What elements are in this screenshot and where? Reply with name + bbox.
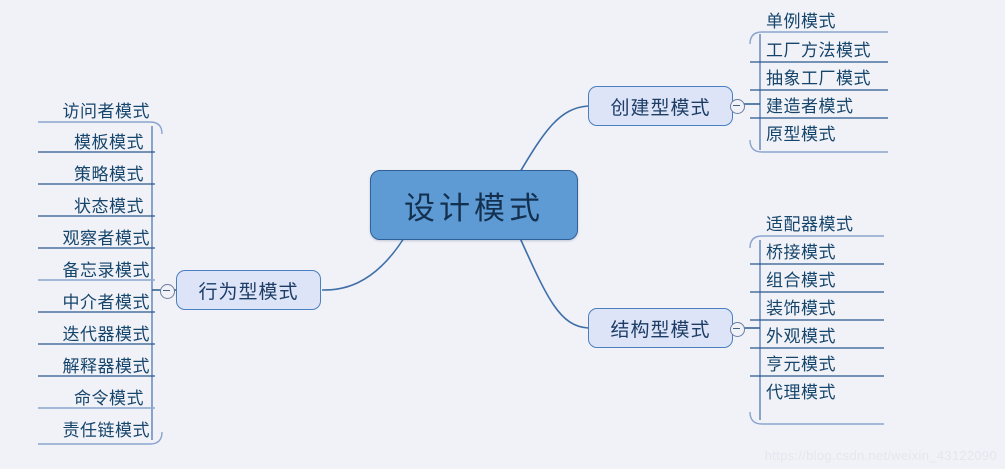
leaf-label: 访问者模式 [63, 102, 151, 121]
leaf-label: 中介者模式 [63, 293, 151, 312]
leaf-label: 建造者模式 [766, 97, 854, 116]
leaf-label: 观察者模式 [63, 229, 151, 248]
leaf-structural-5[interactable]: 亨元模式 [766, 355, 836, 375]
leaf-label: 适配器模式 [766, 215, 854, 234]
leaf-creational-0[interactable]: 单例模式 [766, 12, 836, 32]
leaf-behavioral-4[interactable]: 观察者模式 [10, 229, 150, 249]
leaf-rail-structural-bottom [750, 412, 884, 424]
branch-node-structural[interactable]: 结构型模式 [588, 308, 733, 348]
leaf-structural-3[interactable]: 装饰模式 [766, 299, 836, 319]
leaf-label: 迭代器模式 [63, 325, 151, 344]
collapse-handle-behavioral[interactable] [160, 284, 175, 299]
leaf-label: 原型模式 [766, 125, 836, 144]
branch-node-creational[interactable]: 创建型模式 [588, 86, 733, 126]
branch-node-creational-label: 创建型模式 [610, 93, 710, 120]
leaf-behavioral-6[interactable]: 中介者模式 [10, 293, 150, 313]
branch-node-behavioral-label: 行为型模式 [198, 277, 298, 304]
leaf-structural-0[interactable]: 适配器模式 [766, 215, 854, 235]
leaf-label: 抽象工厂模式 [766, 69, 871, 88]
leaf-creational-4[interactable]: 原型模式 [766, 125, 836, 145]
leaf-label: 外观模式 [766, 327, 836, 346]
leaf-creational-2[interactable]: 抽象工厂模式 [766, 69, 871, 89]
leaf-label: 亨元模式 [766, 355, 836, 374]
leaf-label: 策略模式 [74, 165, 144, 184]
leaf-behavioral-5[interactable]: 备忘录模式 [10, 261, 150, 281]
leaf-behavioral-9[interactable]: 命令模式 [10, 389, 144, 409]
leaf-behavioral-10[interactable]: 责任链模式 [10, 421, 150, 441]
leaf-label: 单例模式 [766, 12, 836, 31]
leaf-behavioral-7[interactable]: 迭代器模式 [10, 325, 150, 345]
leaf-behavioral-2[interactable]: 策略模式 [10, 165, 144, 185]
leaf-behavioral-3[interactable]: 状态模式 [10, 197, 144, 217]
link-center-behavioral [322, 238, 404, 290]
center-node-label: 设计模式 [404, 183, 544, 228]
leaf-label: 状态模式 [74, 197, 144, 216]
leaf-label: 备忘录模式 [63, 261, 151, 280]
branch-node-structural-label: 结构型模式 [610, 315, 710, 342]
leaf-label: 代理模式 [766, 383, 836, 402]
leaf-behavioral-8[interactable]: 解释器模式 [10, 357, 150, 377]
leaf-structural-2[interactable]: 组合模式 [766, 271, 836, 291]
leaf-label: 组合模式 [766, 271, 836, 290]
leaf-label: 解释器模式 [63, 357, 151, 376]
branch-node-behavioral[interactable]: 行为型模式 [176, 270, 321, 310]
leaf-creational-1[interactable]: 工厂方法模式 [766, 41, 871, 61]
link-center-structural [520, 238, 588, 328]
leaf-label: 装饰模式 [766, 299, 836, 318]
watermark: https://blog.csdn.net/weixin_43122090 [765, 448, 997, 463]
leaf-structural-1[interactable]: 桥接模式 [766, 243, 836, 263]
mindmap-canvas: 设计模式 创建型模式 结构型模式 行为型模式 单例模式 工厂方法模式 抽象工厂模… [0, 0, 1005, 469]
leaf-behavioral-1[interactable]: 模板模式 [10, 133, 144, 153]
collapse-handle-creational[interactable] [730, 99, 745, 114]
leaf-label: 责任链模式 [63, 421, 151, 440]
leaf-structural-6[interactable]: 代理模式 [766, 383, 836, 403]
leaf-behavioral-0[interactable]: 访问者模式 [10, 102, 150, 122]
leaf-label: 命令模式 [74, 389, 144, 408]
leaf-creational-3[interactable]: 建造者模式 [766, 97, 854, 117]
collapse-handle-structural[interactable] [730, 322, 745, 337]
leaf-label: 模板模式 [74, 133, 144, 152]
center-node[interactable]: 设计模式 [370, 170, 578, 240]
leaf-label: 桥接模式 [766, 243, 836, 262]
leaf-label: 工厂方法模式 [766, 41, 871, 60]
leaf-structural-4[interactable]: 外观模式 [766, 327, 836, 347]
link-center-creational [520, 106, 588, 172]
